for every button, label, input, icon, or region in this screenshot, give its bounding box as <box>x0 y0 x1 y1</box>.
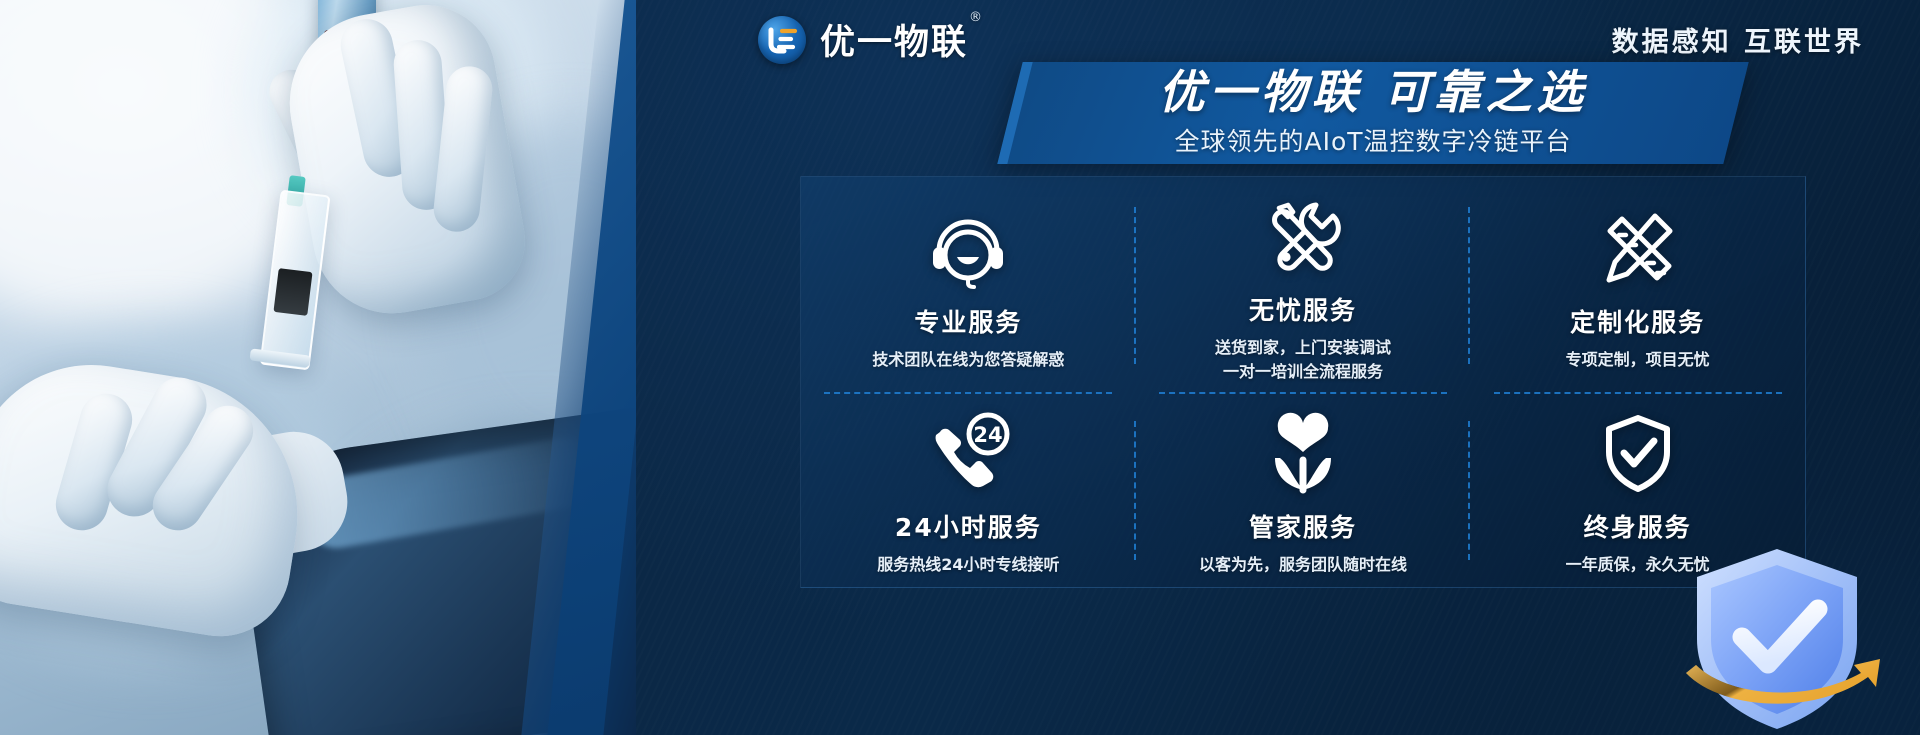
feature-desc: 送货到家，上门安装调试 一对一培训全流程服务 <box>1215 336 1391 384</box>
feature-title: 无忧服务 <box>1249 291 1357 327</box>
wrench-screwdriver-icon <box>1262 185 1344 277</box>
feature-card-custom[interactable]: 定制化服务 专项定制，项目无忧 <box>1470 177 1805 394</box>
feature-card-professional[interactable]: 专业服务 技术团队在线为您答疑解惑 <box>801 177 1136 394</box>
brand-lockup: 优一物联 ® <box>758 14 968 65</box>
shield-check-ribbon-icon <box>1662 531 1892 735</box>
svg-text:24: 24 <box>974 423 1003 447</box>
feature-desc-line: 服务热线24小时专线接听 <box>877 553 1059 577</box>
headline-main: 优一物联 可靠之选 <box>1158 68 1587 116</box>
feature-title: 定制化服务 <box>1570 303 1705 339</box>
feature-desc-line: 送货到家，上门安装调试 <box>1215 336 1391 360</box>
header-tagline: 数据感知 互联世界 <box>1612 20 1864 59</box>
feature-title: 专业服务 <box>914 303 1022 339</box>
headline-sub: 全球领先的AIoT温控数字冷链平台 <box>1174 122 1571 158</box>
phone-24h-icon: 24 <box>926 402 1010 494</box>
ue-circle-logo-icon <box>758 16 806 64</box>
feature-desc: 专项定制，项目无忧 <box>1566 348 1710 372</box>
feature-desc-line: 技术团队在线为您答疑解惑 <box>872 348 1064 372</box>
feature-desc-line: 以客为先，服务团队随时在线 <box>1199 553 1407 577</box>
feature-desc: 技术团队在线为您答疑解惑 <box>872 348 1064 372</box>
features-panel: 专业服务 技术团队在线为您答疑解惑 无忧服务 送货到家，上门安 <box>800 176 1806 588</box>
feature-card-24h[interactable]: 24 24小时服务 服务热线24小时专线接听 <box>801 394 1136 587</box>
feature-desc-line: 一对一培训全流程服务 <box>1215 360 1391 384</box>
promo-banner: 优一物联 ® 数据感知 互联世界 优一物联 可靠之选 全球领先的AIoT温控数字… <box>0 0 1920 735</box>
hand-heart-icon <box>1262 402 1344 494</box>
brand-name: 优一物联 ® <box>820 14 968 65</box>
headline-banner: 优一物联 可靠之选 全球领先的AIoT温控数字冷链平台 <box>1010 62 1736 164</box>
feature-desc: 以客为先，服务团队随时在线 <box>1199 553 1407 577</box>
feature-desc-line: 专项定制，项目无忧 <box>1566 348 1710 372</box>
headset-support-icon <box>927 197 1009 289</box>
brand-name-text: 优一物联 <box>820 23 968 63</box>
pencil-ruler-icon <box>1597 197 1679 289</box>
syringe-fluid <box>273 268 312 316</box>
shield-check-icon <box>1597 402 1679 494</box>
feature-title: 管家服务 <box>1249 508 1357 544</box>
feature-card-butler[interactable]: 管家服务 以客为先，服务团队随时在线 <box>1136 394 1471 587</box>
feature-title: 24小时服务 <box>895 508 1042 544</box>
feature-card-worryfree[interactable]: 无忧服务 送货到家，上门安装调试 一对一培训全流程服务 <box>1136 177 1471 394</box>
registered-mark: ® <box>969 10 984 25</box>
feature-desc: 服务热线24小时专线接听 <box>877 553 1059 577</box>
